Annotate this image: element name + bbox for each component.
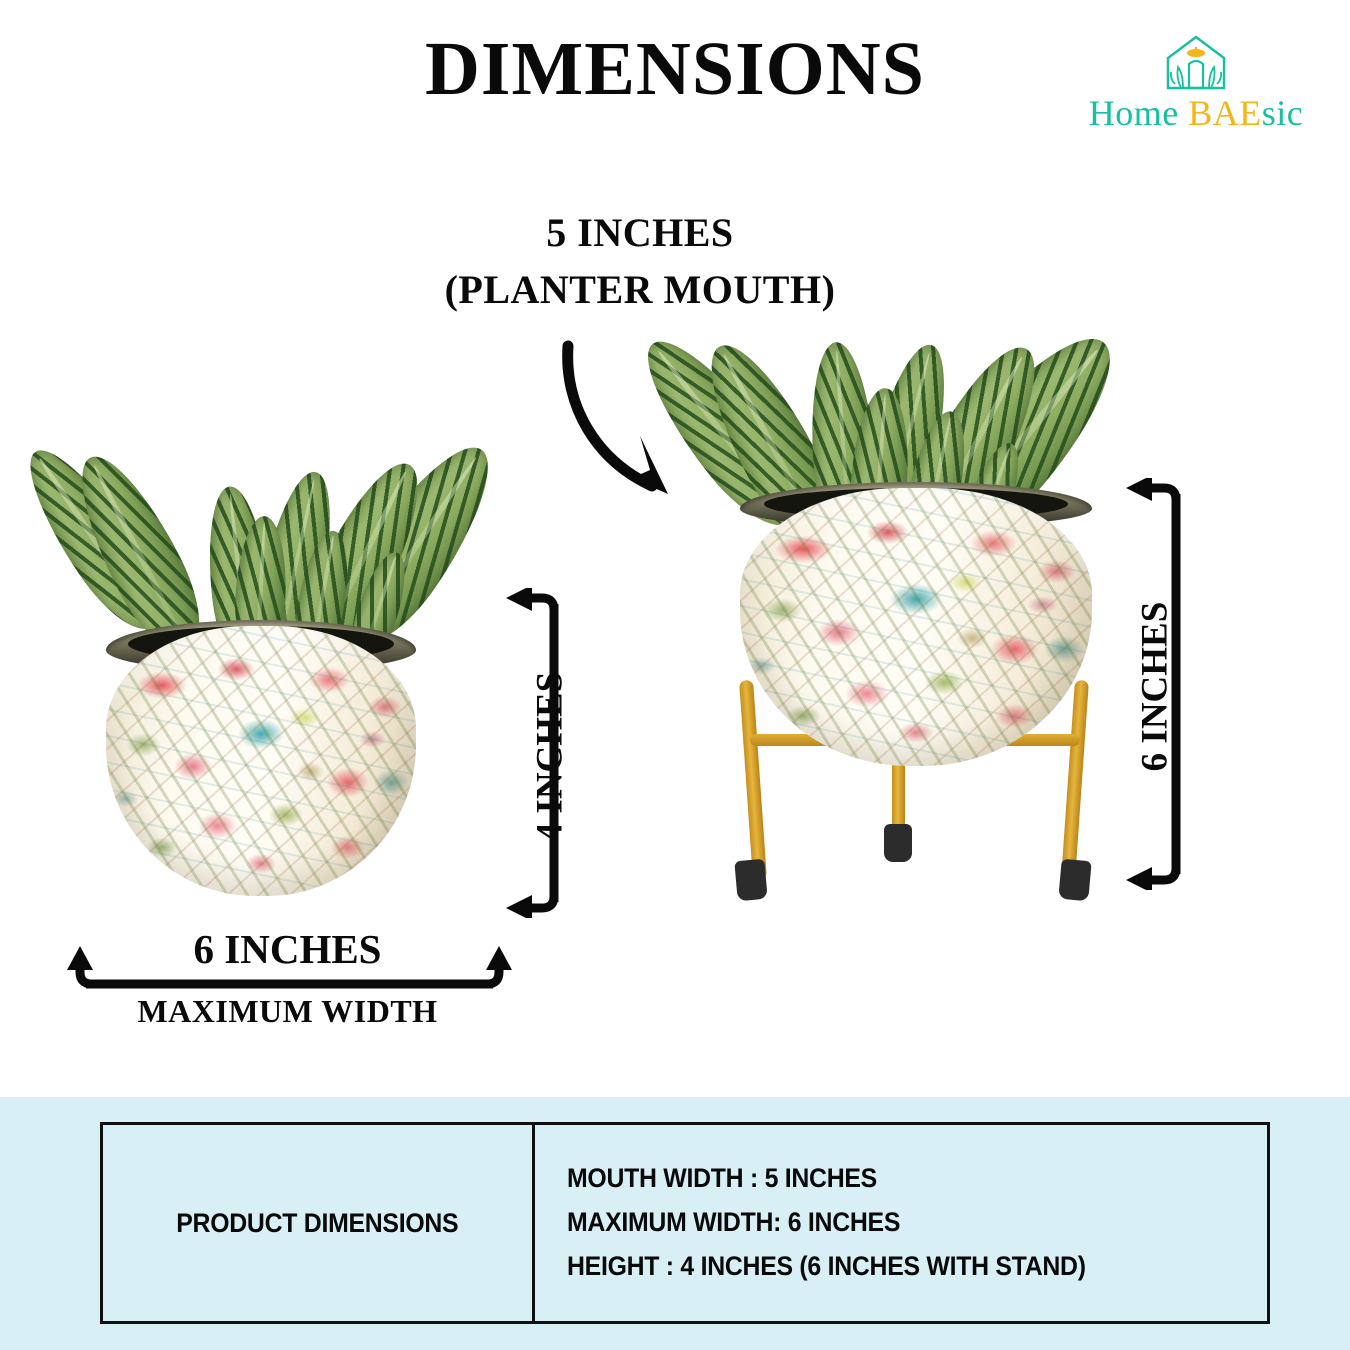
infographic-canvas: DIMENSIONS Home BAEsic 5 INCHES (PLANTER… <box>0 0 1350 1350</box>
table-values-cell: MOUTH WIDTH : 5 INCHES MAXIMUM WIDTH: 6 … <box>535 1125 1267 1321</box>
left-height-label: 4 INCHES <box>529 662 572 852</box>
table-row: MOUTH WIDTH : 5 INCHES <box>567 1157 1211 1201</box>
stand-foot-center <box>884 824 912 862</box>
right-height-label: 6 INCHES <box>1134 587 1177 787</box>
product-dimensions-table: PRODUCT DIMENSIONS MOUTH WIDTH : 5 INCHE… <box>100 1122 1270 1324</box>
planter-pot <box>740 488 1092 766</box>
left-planter-product <box>60 420 510 920</box>
table-row: HEIGHT : 4 INCHES (6 INCHES WITH STAND) <box>567 1245 1211 1289</box>
stand-foot-left <box>734 859 767 901</box>
left-width-caption: MAXIMUM WIDTH <box>80 993 495 1030</box>
table-header-cell: PRODUCT DIMENSIONS <box>103 1125 535 1321</box>
brand-name-part3: sic <box>1262 93 1304 133</box>
table-row: MAXIMUM WIDTH: 6 INCHES <box>567 1201 1211 1245</box>
table-header-label: PRODUCT DIMENSIONS <box>176 1208 458 1239</box>
brand-name-part1: Home <box>1089 93 1188 133</box>
left-width-dimension-arrow <box>62 944 517 992</box>
planter-pot <box>106 626 416 896</box>
house-plant-logo-icon <box>1159 34 1233 94</box>
brand-name: Home BAEsic <box>1086 92 1306 134</box>
brand-logo: Home BAEsic <box>1086 34 1306 139</box>
brand-name-part2: BAE <box>1188 93 1262 133</box>
callout-line-1: 5 INCHES <box>330 205 950 262</box>
right-planter-product <box>680 300 1120 900</box>
stand-foot-right <box>1058 859 1091 901</box>
